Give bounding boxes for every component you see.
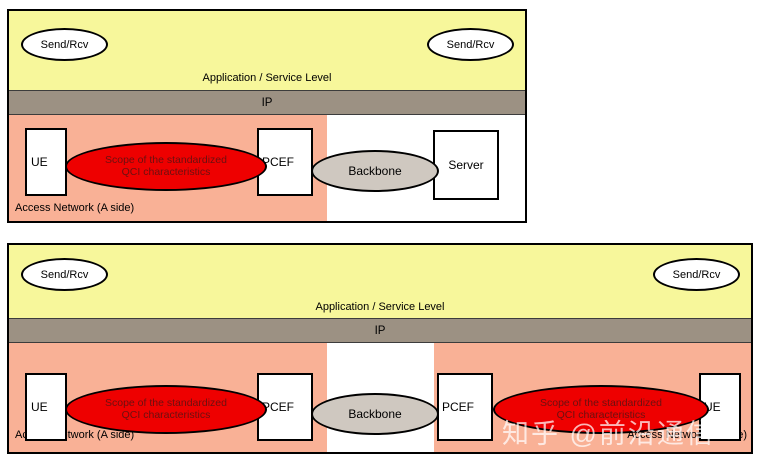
bottom-send-rcv-right-label: Send/Rcv — [673, 269, 721, 281]
bottom-backbone-ellipse-label: Backbone — [348, 407, 401, 421]
bottom-scope-ellipse-a-line2: QCI characteristics — [105, 410, 227, 422]
diagram-top-frame: Application / Service Level IP Access Ne… — [7, 9, 527, 223]
top-scope-ellipse-a-line1: Scope of the standardized — [105, 155, 227, 167]
top-ip-band-label: IP — [9, 98, 525, 110]
bottom-send-rcv-left-label: Send/Rcv — [41, 269, 89, 281]
top-node-server: Server — [433, 130, 499, 200]
bottom-scope-ellipse-b-line1: Scope of the standardized — [540, 398, 662, 410]
bottom-scope-ellipse-a: Scope of the standardized QCI characteri… — [65, 385, 267, 434]
bottom-node-ue-a: UE — [25, 373, 67, 441]
top-node-ue-a-label: UE — [31, 155, 48, 169]
top-backbone-ellipse: Backbone — [311, 150, 439, 192]
bottom-node-pcef-b-label: PCEF — [442, 400, 474, 414]
top-backbone-ellipse-label: Backbone — [348, 164, 401, 178]
bottom-node-ue-a-label: UE — [31, 400, 48, 414]
bottom-send-rcv-left: Send/Rcv — [21, 258, 108, 291]
bottom-send-rcv-right: Send/Rcv — [653, 258, 740, 291]
bottom-application-band-label: Application / Service Level — [9, 302, 751, 313]
bottom-backbone-ellipse: Backbone — [311, 393, 439, 435]
top-scope-ellipse-a-line2: QCI characteristics — [105, 167, 227, 179]
top-application-band-label: Application / Service Level — [9, 73, 525, 84]
bottom-node-pcef-b: PCEF — [437, 373, 493, 441]
bottom-ip-band-label: IP — [9, 326, 751, 338]
top-access-caption-a: Access Network (A side) — [15, 202, 134, 214]
bottom-ip-band: IP — [9, 318, 751, 343]
top-node-server-label: Server — [448, 158, 483, 172]
top-send-rcv-right-label: Send/Rcv — [447, 39, 495, 51]
top-ip-band: IP — [9, 90, 525, 115]
top-send-rcv-right: Send/Rcv — [427, 28, 514, 61]
diagram-bottom-frame: Application / Service Level IP Access Ne… — [7, 243, 753, 454]
top-scope-ellipse-a: Scope of the standardized QCI characteri… — [65, 142, 267, 191]
bottom-scope-ellipse-b-line2: QCI characteristics — [540, 410, 662, 422]
top-node-ue-a: UE — [25, 128, 67, 196]
bottom-application-band: Application / Service Level — [9, 245, 751, 318]
diagram-canvas: Application / Service Level IP Access Ne… — [0, 0, 762, 463]
top-send-rcv-left: Send/Rcv — [21, 28, 108, 61]
bottom-scope-ellipse-a-line1: Scope of the standardized — [105, 398, 227, 410]
top-send-rcv-left-label: Send/Rcv — [41, 39, 89, 51]
bottom-scope-ellipse-b: Scope of the standardized QCI characteri… — [493, 385, 709, 434]
